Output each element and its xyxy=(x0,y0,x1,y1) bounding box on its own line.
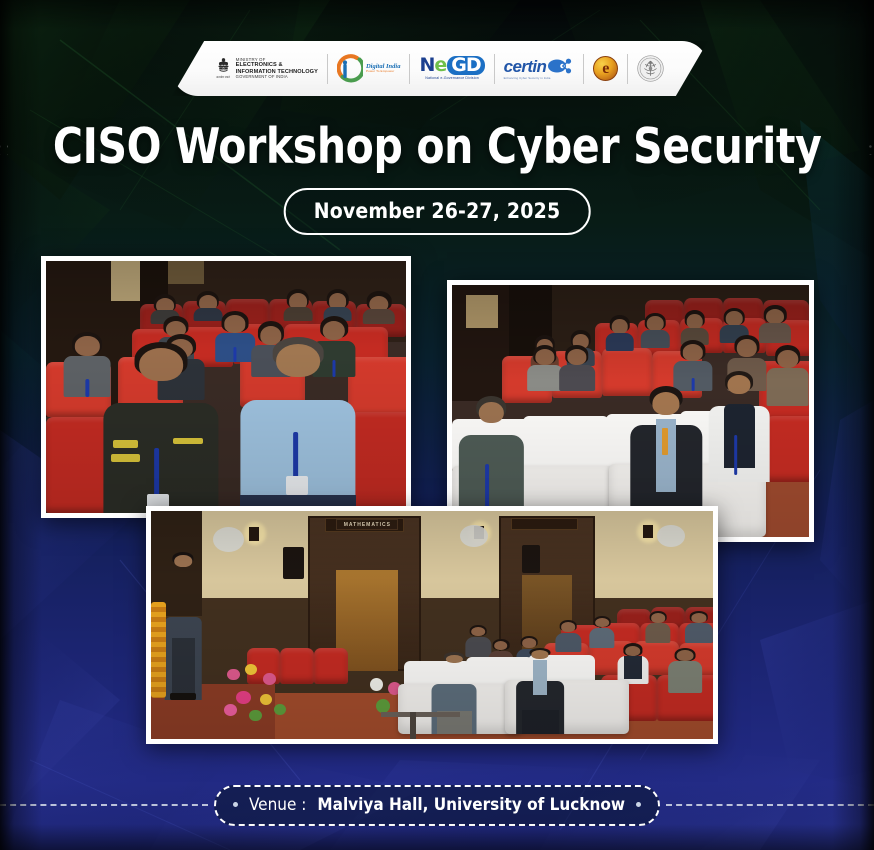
certin-node-icon xyxy=(548,58,574,74)
venue-label: Venue : xyxy=(249,795,306,815)
date-badge: November 26-27, 2025 xyxy=(284,188,591,235)
venue-dash-right xyxy=(666,804,874,806)
e-gov-seal-icon: e xyxy=(593,56,618,81)
certin-mark: certin xyxy=(504,58,547,75)
photo-hall-wide-speaker: MATHEMATICS xyxy=(146,506,718,744)
logo-divider xyxy=(409,54,410,84)
venue-dot-left-icon xyxy=(233,802,238,807)
title-row: CISO Workshop on Cyber Security xyxy=(0,118,874,175)
negd-mark-gd: GD xyxy=(447,56,484,75)
logo-e-gov-seal: e xyxy=(593,56,618,81)
photo-auditorium-front-row xyxy=(41,256,411,518)
venue-dash-left xyxy=(0,804,208,806)
logo-negd: NeGD National e-Governance Division xyxy=(419,56,484,80)
negd-mark-n: N xyxy=(419,54,434,76)
emblem-motto: सत्यमेव जयते xyxy=(216,77,230,80)
logo-divider xyxy=(583,54,584,84)
dots-decoration-right xyxy=(866,139,874,155)
venue-dot-right-icon xyxy=(636,802,641,807)
ministry-line-4: GOVERNMENT OF INDIA xyxy=(236,75,318,80)
logo-university xyxy=(637,55,664,82)
india-state-emblem-icon: सत्यमेव जयते xyxy=(216,57,231,80)
logo-divider xyxy=(327,54,328,84)
ministry-line-2: ELECTRONICS & xyxy=(236,62,318,69)
venue-badge: Venue : Malviya Hall, University of Luck… xyxy=(214,785,660,826)
e-gov-seal-letter: e xyxy=(602,61,609,77)
digital-india-icon xyxy=(337,54,363,84)
logo-divider xyxy=(494,54,495,84)
negd-subtitle: National e-Governance Division xyxy=(425,77,479,81)
page-title: CISO Workshop on Cyber Security xyxy=(53,118,822,175)
dots-decoration-left xyxy=(0,139,8,155)
venue-value: Malviya Hall, University of Lucknow xyxy=(317,795,625,815)
logo-digital-india: Digital India Power To Empower xyxy=(337,54,401,84)
digital-india-tagline: Power To Empower xyxy=(366,70,401,73)
logo-divider xyxy=(627,54,628,84)
negd-mark-e: e xyxy=(434,54,446,76)
logo-certin: certin Enhancing Cyber Security in India xyxy=(504,58,575,80)
certin-subtitle: Enhancing Cyber Security in India xyxy=(504,77,551,80)
logo-ministry-meity: सत्यमेव जयते MINISTRY OF ELECTRONICS & I… xyxy=(216,57,318,80)
university-of-lucknow-emblem-icon xyxy=(637,55,664,82)
venue-row: Venue : Malviya Hall, University of Luck… xyxy=(0,785,874,825)
poster-canvas: सत्यमेव जयते MINISTRY OF ELECTRONICS & I… xyxy=(0,0,874,850)
logo-bar: सत्यमेव जयते MINISTRY OF ELECTRONICS & I… xyxy=(172,41,708,96)
photo-audience-with-sofas xyxy=(447,280,814,542)
